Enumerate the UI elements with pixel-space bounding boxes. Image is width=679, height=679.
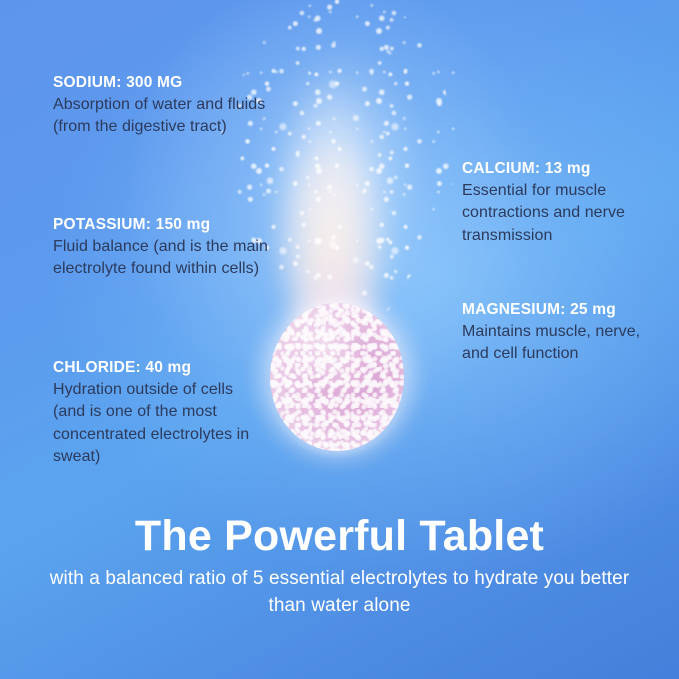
fact-potassium-title: POTASSIUM: 150 mg — [53, 215, 268, 234]
fact-chloride: CHLORIDE: 40 mg Hydration outside of cel… — [53, 358, 268, 468]
fact-sodium: SODIUM: 300 MG Absorption of water and f… — [53, 73, 268, 139]
plume-tail-glow — [296, 238, 374, 348]
fact-calcium-description: Essential for muscle contractions and ne… — [462, 180, 662, 246]
tablet-rim-highlight — [266, 299, 408, 455]
plume-core-glow — [258, 0, 418, 370]
fact-magnesium-title: MAGNESIUM: 25 mg — [462, 300, 667, 319]
fact-chloride-title: CHLORIDE: 40 mg — [53, 358, 268, 377]
tablet-body — [270, 303, 404, 451]
fact-sodium-title: SODIUM: 300 MG — [53, 73, 268, 92]
electrolyte-infographic-poster: SODIUM: 300 MG Absorption of water and f… — [0, 0, 679, 679]
plume-warm-glow — [276, 150, 386, 340]
fact-magnesium: MAGNESIUM: 25 mg Maintains muscle, nerve… — [462, 300, 667, 366]
tablet-bubble-texture — [270, 303, 404, 451]
fact-calcium-title: CALCIUM: 13 mg — [462, 159, 662, 178]
fact-sodium-description: Absorption of water and fluids (from the… — [53, 94, 268, 138]
fact-calcium: CALCIUM: 13 mg Essential for muscle cont… — [462, 159, 662, 247]
footer-subtitle: with a balanced ratio of 5 essential ele… — [40, 566, 639, 620]
footer-title: The Powerful Tablet — [40, 512, 639, 560]
fact-potassium: POTASSIUM: 150 mg Fluid balance (and is … — [53, 215, 268, 281]
tablet-halo — [252, 287, 422, 469]
fact-magnesium-description: Maintains muscle, nerve, and cell functi… — [462, 321, 667, 365]
effervescent-tablet — [270, 303, 404, 451]
bubble-field-coarse — [246, 30, 436, 330]
fact-potassium-description: Fluid balance (and is the main electroly… — [53, 236, 268, 280]
fact-chloride-description: Hydration outside of cells (and is one o… — [53, 379, 268, 467]
footer-block: The Powerful Tablet with a balanced rati… — [0, 512, 679, 620]
